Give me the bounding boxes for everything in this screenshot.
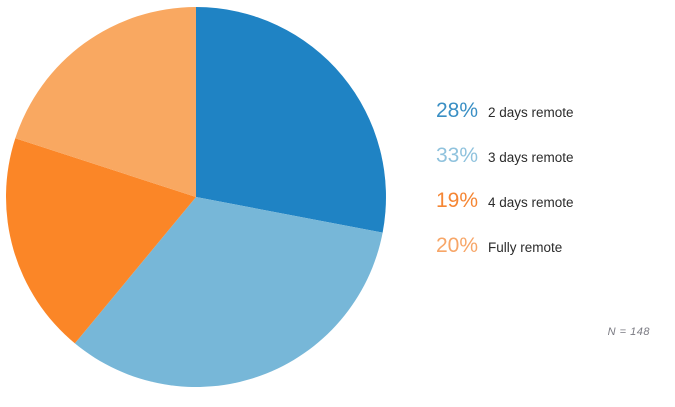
legend-item-2-days-remote[interactable]: 28% 2 days remote [404,100,669,145]
legend-item-3-days-remote[interactable]: 33% 3 days remote [404,145,669,190]
legend-item-4-days-remote[interactable]: 19% 4 days remote [404,190,669,235]
legend: 28% 2 days remote 33% 3 days remote 19% … [404,100,669,280]
legend-percent-value: 33% [404,145,478,166]
pie-slice[interactable] [196,7,386,233]
pie-slice-group [6,7,386,387]
legend-percent-value: 19% [404,190,478,211]
legend-percent-value: 28% [404,100,478,121]
legend-item-label: 3 days remote [478,147,574,168]
sample-size-annotation: N = 148 [420,326,650,338]
legend-item-label: Fully remote [478,237,562,258]
legend-percent-value: 20% [404,235,478,256]
pie-chart-graphic [0,0,400,407]
pie-chart-figure: 28% 2 days remote 33% 3 days remote 19% … [0,0,675,407]
legend-item-label: 4 days remote [478,192,574,213]
legend-item-label: 2 days remote [478,102,574,123]
pie-svg [0,0,400,407]
legend-item-fully-remote[interactable]: 20% Fully remote [404,235,669,280]
